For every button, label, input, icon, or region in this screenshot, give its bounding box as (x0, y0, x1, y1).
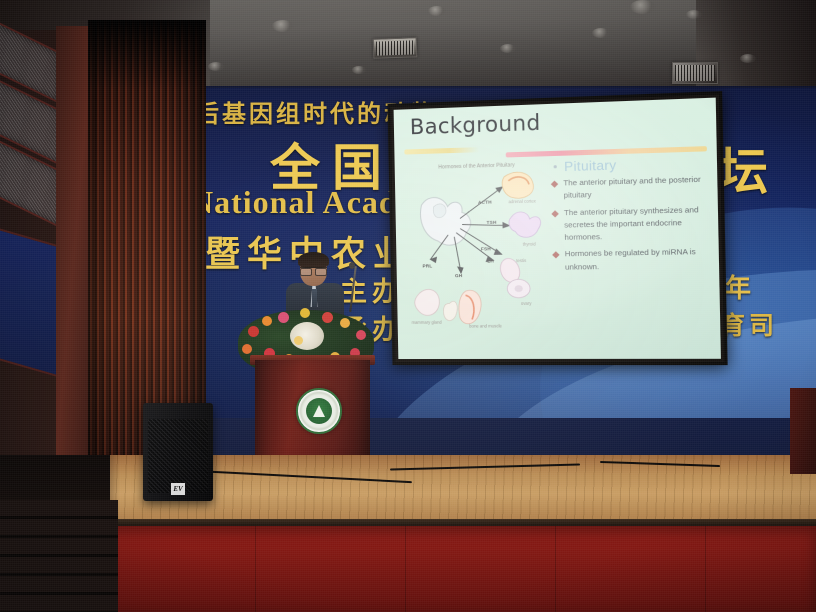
diagram-organ-thyroid: thyroid (512, 241, 547, 247)
slide-bullet-text: The anterior pituitary and the posterior… (563, 175, 701, 201)
slide-heading-row: Pituitary (549, 154, 711, 174)
slide-title: Background (410, 110, 541, 139)
slide-rule-yellow (404, 147, 479, 154)
diamond-bullet-icon (551, 181, 558, 188)
presenter-hair (298, 252, 329, 268)
bloom (340, 318, 350, 328)
diagram-label-fsh: FSH (481, 246, 491, 251)
slide-bullet-list: Pituitary The anterior pituitary and the… (549, 154, 713, 278)
bloom (300, 308, 310, 318)
projection-screen: Background Hormones of the Anterior Pitu… (388, 91, 728, 365)
seal-glyph-icon (313, 405, 325, 417)
diagram-label-acth: ACTH (478, 200, 492, 205)
slide-bullet: The anterior pituitary and the posterior… (550, 173, 713, 203)
pa-speaker-cabinet: EV (143, 403, 213, 501)
diagram-label-gh: GH (455, 273, 462, 278)
heading-dot-icon (554, 165, 557, 168)
diagram-organ-ovary: ovary (509, 301, 544, 307)
bloom (248, 326, 259, 337)
diamond-bullet-icon (552, 252, 559, 259)
ceiling-light-icon (500, 44, 516, 53)
slide-bullet: Hormones be regulated by miRNA is unknow… (551, 246, 714, 274)
ceiling-light-icon (686, 10, 702, 19)
diagram-organ-testis: testis (504, 258, 539, 264)
diagram-label-prl: PRL (423, 263, 433, 268)
diagram-organ-mammary-gland: mammary gland (410, 320, 444, 326)
diagram-organ-bone-and-muscle: bone and muscle (468, 323, 503, 329)
pituitary-diagram: Hormones of the Anterior Pituitary (403, 159, 549, 350)
speaker-grille (148, 419, 208, 493)
presentation-slide: Background Hormones of the Anterior Pitu… (394, 98, 721, 359)
diagram-organ-adrenal-cortex: adrenal cortex (505, 198, 540, 204)
diamond-bullet-icon (551, 210, 558, 217)
seal-inner-ring (306, 398, 332, 424)
conference-photo-scene: 后基因组时代的动物 全国 National Academ 暨华中农业大 究生学术… (0, 0, 816, 612)
ceiling-light-icon (428, 6, 446, 16)
university-seal-icon (296, 388, 342, 434)
slide-bullet-text: The anterior pituitary synthesizes and s… (564, 205, 699, 243)
ceiling-light-icon (630, 0, 656, 14)
bloom (242, 344, 252, 354)
slide-body: Hormones of the Anterior Pituitary (395, 154, 721, 354)
ceiling-light-icon (208, 62, 224, 71)
bloom (262, 316, 272, 326)
ceiling-light-icon (272, 20, 294, 32)
bloom (322, 312, 333, 323)
slide-bullet-text: Hormones be regulated by miRNA is unknow… (565, 247, 696, 271)
bloom (356, 330, 366, 340)
stage-side-object (790, 388, 816, 474)
slide-bullet: The anterior pituitary synthesizes and s… (550, 203, 713, 244)
stage-stairs (0, 500, 118, 612)
banner-right-cn-3: 育司 (720, 306, 778, 342)
speaker-brand-logo: EV (171, 483, 185, 495)
microphone-icon (349, 262, 355, 269)
ceiling-vent-icon (672, 62, 718, 84)
curtain-shadow (88, 20, 206, 90)
glasses-icon (300, 267, 327, 274)
diagram-label-lh: LH (487, 258, 494, 263)
slide-heading: Pituitary (564, 154, 712, 174)
ceiling-light-icon (592, 28, 610, 38)
ceiling-light-icon (352, 66, 366, 74)
diagram-label-tsh: TSH (487, 220, 497, 225)
ceiling-vent-icon (373, 37, 418, 59)
stage-skirt (105, 526, 816, 612)
bloom (294, 336, 303, 345)
ceiling-light-icon (740, 54, 756, 63)
bloom (278, 312, 289, 323)
